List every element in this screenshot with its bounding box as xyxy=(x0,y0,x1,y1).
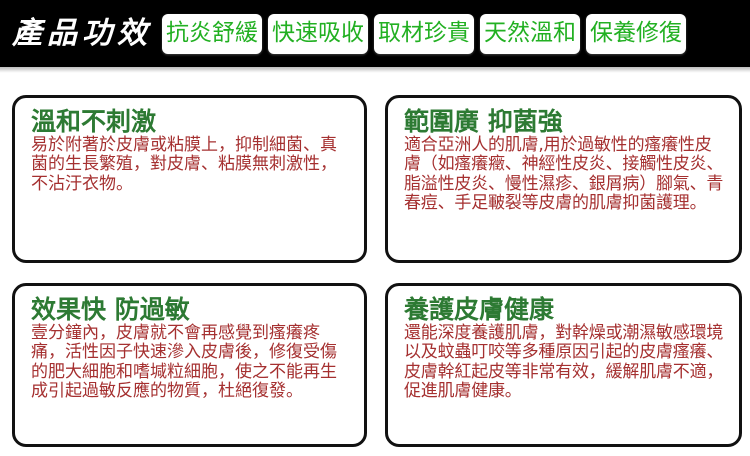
product-benefits-banner: 產品功效 抗炎舒緩 快速吸收 取材珍貴 天然溫和 保養修復 溫和不刺激 易於附著… xyxy=(0,0,750,456)
header-bar: 產品功效 抗炎舒緩 快速吸收 取材珍貴 天然溫和 保養修復 xyxy=(0,0,750,67)
benefit-card-body: 壹分鐘內，皮膚就不會再感覺到瘙癢疼痛，活性因子快速滲入皮膚後，修復受傷的肥大細胞… xyxy=(31,324,352,402)
feature-tag-anti-inflammatory[interactable]: 抗炎舒緩 xyxy=(162,14,262,54)
benefit-card-skin-health: 養護皮膚健康 還能深度養護肌膚，對幹燥或潮濕敏感環境以及蚊蟲叮咬等多種原因引起的… xyxy=(385,283,742,447)
feature-tag-premium-ingredients[interactable]: 取材珍貴 xyxy=(374,14,474,54)
benefit-card-broad-spectrum: 範圍廣 抑菌強 適合亞洲人的肌膚,用於過敏性的瘙癢性皮膚（如瘙癢癥、神經性皮炎、… xyxy=(385,95,742,263)
benefit-card-body: 易於附著於皮膚或粘膜上，抑制細菌、真菌的生長繁殖，對皮膚、粘膜無刺激性，不沾汙衣… xyxy=(31,136,352,194)
benefit-card-fast-acting: 效果快 防過敏 壹分鐘內，皮膚就不會再感覺到瘙癢疼痛，活性因子快速滲入皮膚後，修… xyxy=(12,283,367,447)
benefit-card-grid: 溫和不刺激 易於附著於皮膚或粘膜上，抑制細菌、真菌的生長繁殖，對皮膚、粘膜無刺激… xyxy=(12,95,742,447)
benefit-card-heading: 範圍廣 抑菌強 xyxy=(404,108,727,135)
benefit-card-mild: 溫和不刺激 易於附著於皮膚或粘膜上，抑制細菌、真菌的生長繁殖，對皮膚、粘膜無刺激… xyxy=(12,95,367,263)
benefit-card-body: 還能深度養護肌膚，對幹燥或潮濕敏感環境以及蚊蟲叮咬等多種原因引起的皮膚瘙癢、皮膚… xyxy=(404,324,727,402)
benefit-card-heading: 養護皮膚健康 xyxy=(404,296,727,323)
feature-tag-natural-mild[interactable]: 天然溫和 xyxy=(480,14,580,54)
page-title: 產品功效 xyxy=(12,19,152,49)
benefit-card-heading: 溫和不刺激 xyxy=(31,108,352,135)
benefit-card-body: 適合亞洲人的肌膚,用於過敏性的瘙癢性皮膚（如瘙癢癥、神經性皮炎、接觸性皮炎、脂溢… xyxy=(404,136,727,214)
feature-tag-list: 抗炎舒緩 快速吸收 取材珍貴 天然溫和 保養修復 xyxy=(162,14,686,54)
feature-tag-repair-care[interactable]: 保養修復 xyxy=(586,14,686,54)
feature-tag-fast-absorption[interactable]: 快速吸收 xyxy=(268,14,368,54)
header-divider xyxy=(0,67,750,73)
benefit-card-heading: 效果快 防過敏 xyxy=(31,296,352,323)
